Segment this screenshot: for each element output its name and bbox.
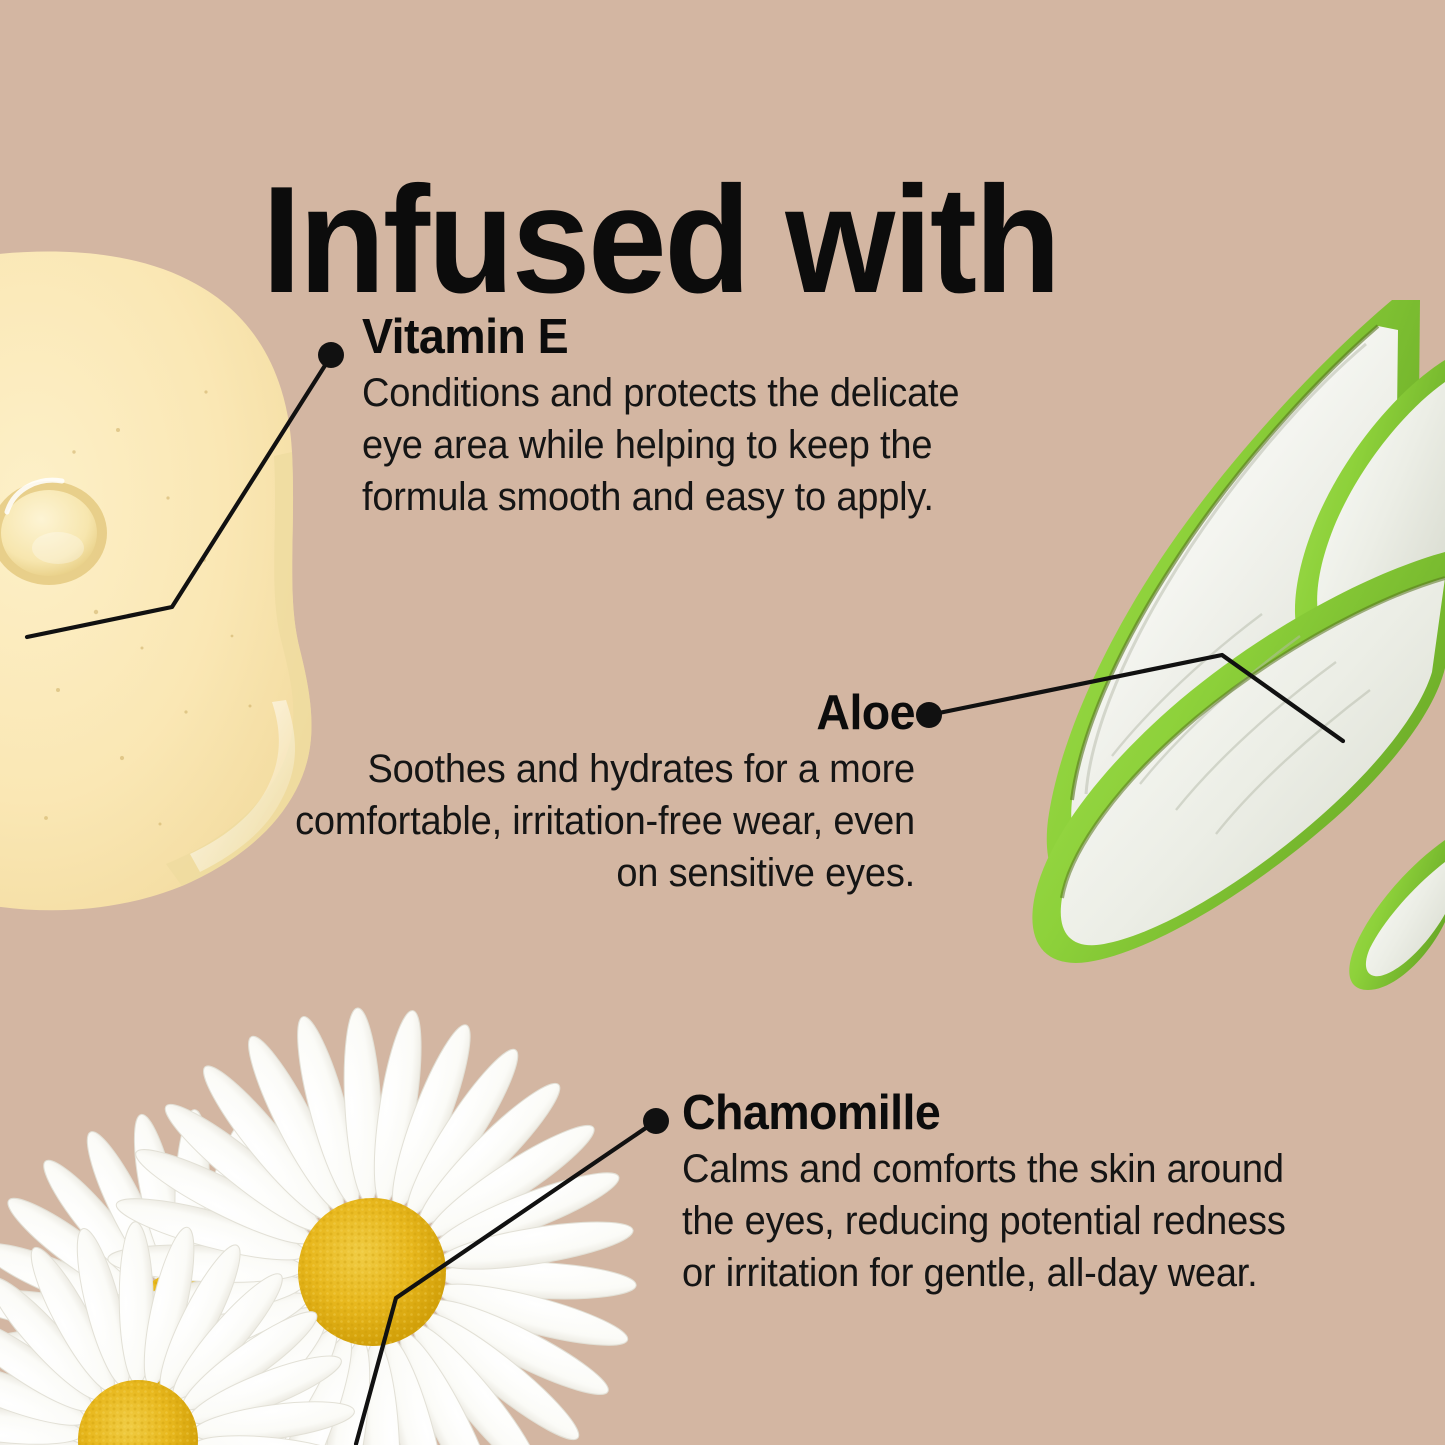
leader-dot-aloe-icon (916, 702, 942, 728)
ingredient-block-vitamin-e: Vitamin E Conditions and protects the de… (362, 310, 1042, 523)
ingredient-description-vitamin-e: Conditions and protects the delicate eye… (362, 367, 1008, 523)
leader-line-chamomille (356, 1121, 656, 1444)
ingredient-name-chamomille: Chamomille (682, 1086, 1319, 1141)
ingredient-block-aloe: Aloe Soothes and hydrates for a more com… (250, 686, 915, 899)
ingredient-description-aloe: Soothes and hydrates for a more comforta… (283, 743, 915, 899)
page-title: Infused with (262, 164, 1059, 316)
ingredient-name-vitamin-e: Vitamin E (362, 310, 1008, 365)
ingredient-name-aloe: Aloe (283, 686, 915, 741)
leader-dot-chamomille-icon (643, 1108, 669, 1134)
leader-dot-vitamin-e-icon (318, 342, 344, 368)
leader-line-aloe (929, 655, 1343, 741)
infographic-canvas: Infused with Vitamin E Conditions and pr… (0, 0, 1445, 1445)
ingredient-description-chamomille: Calms and comforts the skin around the e… (682, 1143, 1319, 1299)
leader-line-vitamin-e (27, 356, 331, 637)
ingredient-block-chamomille: Chamomille Calms and comforts the skin a… (682, 1086, 1352, 1299)
